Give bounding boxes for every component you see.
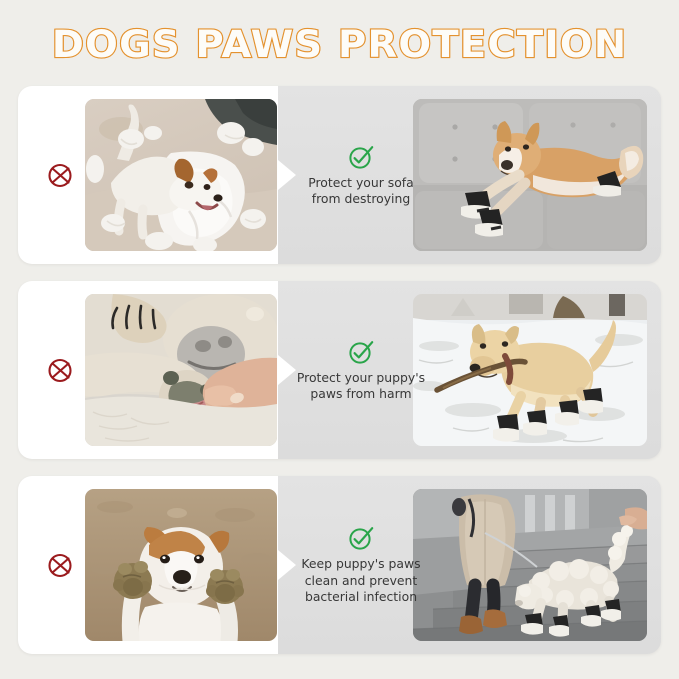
arrow-pointer-2	[278, 355, 296, 385]
labrador-snow-boots-photo	[413, 294, 647, 446]
before-pane-1	[18, 86, 278, 264]
benefit-text-3: Keep puppy's paws clean and prevent bact…	[288, 556, 434, 605]
benefit-message-2: Protect your puppy's paws from harm	[288, 338, 434, 403]
check-circle-icon	[347, 524, 375, 552]
arrow-pointer-1	[278, 160, 296, 190]
benefit-message-3: Keep puppy's paws clean and prevent bact…	[288, 524, 434, 605]
check-circle-icon	[347, 338, 375, 366]
arrow-pointer-3	[278, 550, 296, 580]
after-pane-3: Keep puppy's paws clean and prevent bact…	[278, 476, 661, 654]
cross-circle-icon	[44, 549, 76, 581]
benefit-message-1: Protect your sofa from destroying	[288, 143, 434, 208]
benefit-text-1: Protect your sofa from destroying	[288, 175, 434, 208]
cross-circle-icon	[44, 354, 76, 386]
after-pane-1: Protect your sofa from destroying	[278, 86, 661, 264]
page-title: DOGS PAWS PROTECTION	[52, 23, 627, 66]
before-pane-3	[18, 476, 278, 654]
poodle-on-steps-photo	[413, 489, 647, 641]
benefit-card-2: Protect your puppy's paws from harm	[18, 281, 661, 459]
check-circle-icon	[347, 143, 375, 171]
page-title-container: DOGS PAWS PROTECTION	[0, 18, 679, 70]
infographic-page: DOGS PAWS PROTECTION	[0, 0, 679, 679]
benefit-text-2: Protect your puppy's paws from harm	[288, 370, 434, 403]
cross-circle-icon	[44, 159, 76, 191]
before-pane-2	[18, 281, 278, 459]
dog-destroyed-pillow-photo	[85, 99, 277, 251]
shiba-on-sofa-with-boots-photo	[413, 99, 647, 251]
benefit-card-1: Protect your sofa from destroying	[18, 86, 661, 264]
benefit-card-3: Keep puppy's paws clean and prevent bact…	[18, 476, 661, 654]
injured-paw-photo	[85, 294, 277, 446]
after-pane-2: Protect your puppy's paws from harm	[278, 281, 661, 459]
muddy-paws-photo	[85, 489, 277, 641]
